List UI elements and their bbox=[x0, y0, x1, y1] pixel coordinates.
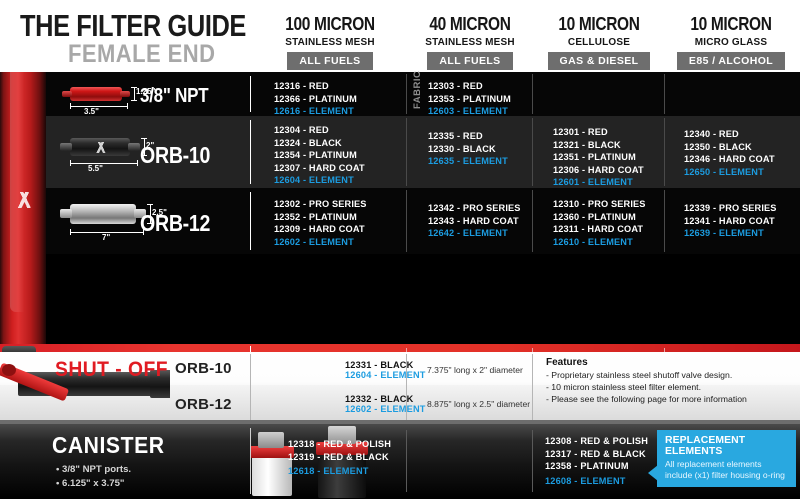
aeromotive-logo-icon bbox=[12, 192, 34, 208]
element-part-number: 12639 - ELEMENT bbox=[684, 227, 777, 240]
column-divider bbox=[250, 192, 251, 250]
part-cell: 12303 - RED 12353 - PLATINUM 12603 - ELE… bbox=[428, 80, 511, 118]
part-number: 12335 - RED bbox=[428, 130, 508, 143]
part-number: 12304 - RED bbox=[274, 124, 387, 137]
shutoff-section: SHUT - OFF ORB-10 ORB-12 12331 - BLACK 1… bbox=[0, 352, 800, 422]
element-part-number: 12610 - ELEMENT bbox=[553, 236, 646, 249]
dimension-length: 5.5" bbox=[88, 164, 103, 173]
element-part-number: 12650 - ELEMENT bbox=[684, 166, 775, 179]
page-subtitle: FEMALE END bbox=[68, 40, 215, 69]
element-part-number: 12602 - ELEMENT bbox=[345, 404, 426, 414]
part-number: 12311 - HARD COAT bbox=[553, 223, 646, 236]
row-label-orb12: ORB-12 bbox=[140, 210, 210, 237]
element-part-number: 12602 - ELEMENT bbox=[274, 236, 367, 249]
column-divider bbox=[250, 76, 251, 112]
part-number: 12340 - RED bbox=[684, 128, 775, 141]
element-part-number: 12604 - ELEMENT bbox=[274, 174, 387, 187]
part-number: 12354 - PLATINUM bbox=[274, 149, 387, 162]
part-number: 12350 - BLACK bbox=[684, 141, 775, 154]
column-material-label: STAINLESS MESH bbox=[259, 36, 402, 48]
column-divider bbox=[532, 74, 533, 114]
part-number: 12353 - PLATINUM bbox=[428, 93, 511, 106]
part-cell: 12335 - RED 12330 - BLACK 12635 - ELEMEN… bbox=[428, 130, 508, 168]
column-header-10-micron-cellulose: 10 MICRON CELLULOSE GAS & DIESEL bbox=[535, 14, 663, 70]
column-header-100-micron: 100 MICRON STAINLESS MESH ALL FUELS bbox=[255, 14, 405, 70]
canister-bullet: • 6.125" x 3.75" bbox=[56, 478, 124, 489]
dimension-length: 7" bbox=[102, 233, 110, 242]
table-row: 7" 2.5" ORB-12 12302 - PRO SERIES 12352 … bbox=[46, 188, 800, 254]
part-number: 12342 - PRO SERIES bbox=[428, 202, 521, 215]
column-header-40-micron: 40 MICRON STAINLESS MESH ALL FUELS bbox=[406, 14, 534, 70]
column-divider bbox=[250, 120, 251, 184]
part-cell: 12302 - PRO SERIES 12352 - PLATINUM 1230… bbox=[274, 198, 367, 248]
replacement-elements-callout: REPLACEMENT ELEMENTS All replacement ele… bbox=[657, 430, 796, 487]
column-header-10-micron-micro-glass: 10 MICRON MICRO GLASS E85 / ALCOHOL bbox=[666, 14, 796, 70]
column-micron-label: 100 MICRON bbox=[266, 14, 395, 35]
row-label-npt: 3/8" NPT bbox=[140, 85, 208, 108]
part-number: 12309 - HARD COAT bbox=[274, 223, 367, 236]
part-number: 12324 - BLACK bbox=[274, 137, 387, 150]
replacement-text: All replacement elements include (x1) fi… bbox=[665, 459, 789, 481]
element-part-number: 12618 - ELEMENT bbox=[288, 465, 391, 478]
part-cell: 12301 - RED 12321 - BLACK 12351 - PLATIN… bbox=[553, 126, 644, 189]
dimension-text: 8.875" long x 2.5" diameter bbox=[427, 399, 530, 409]
part-number: 12303 - RED bbox=[428, 80, 511, 93]
fabric-tag: FABRIC bbox=[412, 79, 423, 109]
element-part-number: 12642 - ELEMENT bbox=[428, 227, 521, 240]
column-divider bbox=[406, 430, 407, 492]
column-micron-label: 10 MICRON bbox=[544, 14, 654, 35]
part-number: 12343 - HARD COAT bbox=[428, 215, 521, 228]
column-divider bbox=[664, 190, 665, 252]
column-divider bbox=[406, 190, 407, 252]
part-number: 12318 - RED & POLISH bbox=[288, 438, 391, 451]
column-divider bbox=[532, 190, 533, 252]
column-divider bbox=[664, 118, 665, 186]
part-number: 12321 - BLACK bbox=[553, 139, 644, 152]
column-material-label: CELLULOSE bbox=[538, 36, 660, 48]
element-part-number: 12635 - ELEMENT bbox=[428, 155, 508, 168]
canister-artwork-white bbox=[252, 454, 292, 496]
part-number: 12302 - PRO SERIES bbox=[274, 198, 367, 211]
canister-section: CANISTER • 3/8" NPT ports. • 6.125" x 3.… bbox=[0, 424, 800, 499]
size-label-orb10: ORB-10 bbox=[175, 360, 232, 377]
column-divider bbox=[532, 118, 533, 186]
canister-title: CANISTER bbox=[52, 432, 165, 459]
part-number: 12351 - PLATINUM bbox=[553, 151, 644, 164]
dimension-length: 3.5" bbox=[84, 107, 99, 116]
part-cell: 12308 - RED & POLISH 12317 - RED & BLACK… bbox=[545, 435, 648, 487]
element-part-number: 12608 - ELEMENT bbox=[545, 475, 648, 488]
features-title: Features bbox=[546, 357, 747, 368]
column-divider bbox=[406, 74, 407, 114]
part-number: 12308 - RED & POLISH bbox=[545, 435, 648, 448]
column-material-label: STAINLESS MESH bbox=[409, 36, 531, 48]
part-number: 12346 - HARD COAT bbox=[684, 153, 775, 166]
column-micron-label: 40 MICRON bbox=[415, 14, 525, 35]
part-number: 12332 - BLACK bbox=[345, 394, 426, 404]
part-number: 12360 - PLATINUM bbox=[553, 211, 646, 224]
table-row: 5.5" 2" ORB-10 12304 - RED 12324 - BLACK… bbox=[46, 116, 800, 188]
column-fuel-badge: ALL FUELS bbox=[287, 52, 372, 70]
part-number: 12358 - PLATINUM bbox=[545, 460, 648, 473]
part-cell: 12342 - PRO SERIES 12343 - HARD COAT 126… bbox=[428, 202, 521, 240]
part-number: 12339 - PRO SERIES bbox=[684, 202, 777, 215]
part-number: 12317 - RED & BLACK bbox=[545, 448, 648, 461]
part-number: 12330 - BLACK bbox=[428, 143, 508, 156]
feature-item: - Please see the following page for more… bbox=[546, 394, 747, 406]
column-fuel-badge: E85 / ALCOHOL bbox=[677, 52, 785, 70]
part-cell: 12310 - PRO SERIES 12360 - PLATINUM 1231… bbox=[553, 198, 646, 248]
part-number: 12366 - PLATINUM bbox=[274, 93, 357, 106]
page-header: THE FILTER GUIDE FEMALE END 100 MICRON S… bbox=[0, 0, 800, 72]
feature-item: - Proprietary stainless steel shutoff va… bbox=[546, 370, 747, 382]
element-part-number: 12604 - ELEMENT bbox=[345, 370, 426, 380]
part-cell: 12332 - BLACK 12602 - ELEMENT bbox=[345, 394, 426, 414]
dimension-text: 7.375" long x 2" diameter bbox=[427, 365, 523, 375]
column-divider bbox=[250, 428, 251, 494]
column-fuel-badge: ALL FUELS bbox=[427, 52, 512, 70]
column-divider bbox=[250, 354, 251, 420]
part-number: 12341 - HARD COAT bbox=[684, 215, 777, 228]
female-end-section: 3.5" 1.25" 3/8" NPT 12316 - RED 12366 - … bbox=[0, 72, 800, 344]
part-number: 12301 - RED bbox=[553, 126, 644, 139]
part-number: 12319 - RED & BLACK bbox=[288, 451, 391, 464]
column-micron-label: 10 MICRON bbox=[675, 14, 787, 35]
column-divider bbox=[532, 354, 533, 420]
page-title: THE FILTER GUIDE bbox=[20, 8, 246, 44]
part-number: 12352 - PLATINUM bbox=[274, 211, 367, 224]
part-cell: 12316 - RED 12366 - PLATINUM 12616 - ELE… bbox=[274, 80, 357, 118]
part-number: 12307 - HARD COAT bbox=[274, 162, 387, 175]
replacement-title: REPLACEMENT ELEMENTS bbox=[665, 435, 789, 457]
column-divider bbox=[532, 430, 533, 492]
part-number: 12310 - PRO SERIES bbox=[553, 198, 646, 211]
part-cell: 12339 - PRO SERIES 12341 - HARD COAT 126… bbox=[684, 202, 777, 240]
column-material-label: MICRO GLASS bbox=[669, 36, 793, 48]
row-label-orb10: ORB-10 bbox=[140, 142, 210, 169]
part-number: 12331 - BLACK bbox=[345, 360, 426, 370]
column-divider bbox=[664, 74, 665, 114]
shutoff-title: SHUT - OFF bbox=[55, 358, 168, 382]
column-divider bbox=[406, 118, 407, 186]
features-block: Features - Proprietary stainless steel s… bbox=[546, 357, 747, 405]
canister-bullet: • 3/8" NPT ports. bbox=[56, 464, 131, 475]
part-cell: 12331 - BLACK 12604 - ELEMENT bbox=[345, 360, 426, 380]
red-canister-artwork bbox=[0, 72, 46, 344]
table-row: 3.5" 1.25" 3/8" NPT 12316 - RED 12366 - … bbox=[46, 72, 800, 116]
part-number: 12316 - RED bbox=[274, 80, 357, 93]
part-cell: 12340 - RED 12350 - BLACK 12346 - HARD C… bbox=[684, 128, 775, 178]
part-cell: 12318 - RED & POLISH 12319 - RED & BLACK… bbox=[288, 438, 391, 478]
column-fuel-badge: GAS & DIESEL bbox=[548, 52, 651, 70]
size-label-orb12: ORB-12 bbox=[175, 396, 232, 413]
feature-item: - 10 micron stainless steel filter eleme… bbox=[546, 382, 747, 394]
part-number: 12306 - HARD COAT bbox=[553, 164, 644, 177]
